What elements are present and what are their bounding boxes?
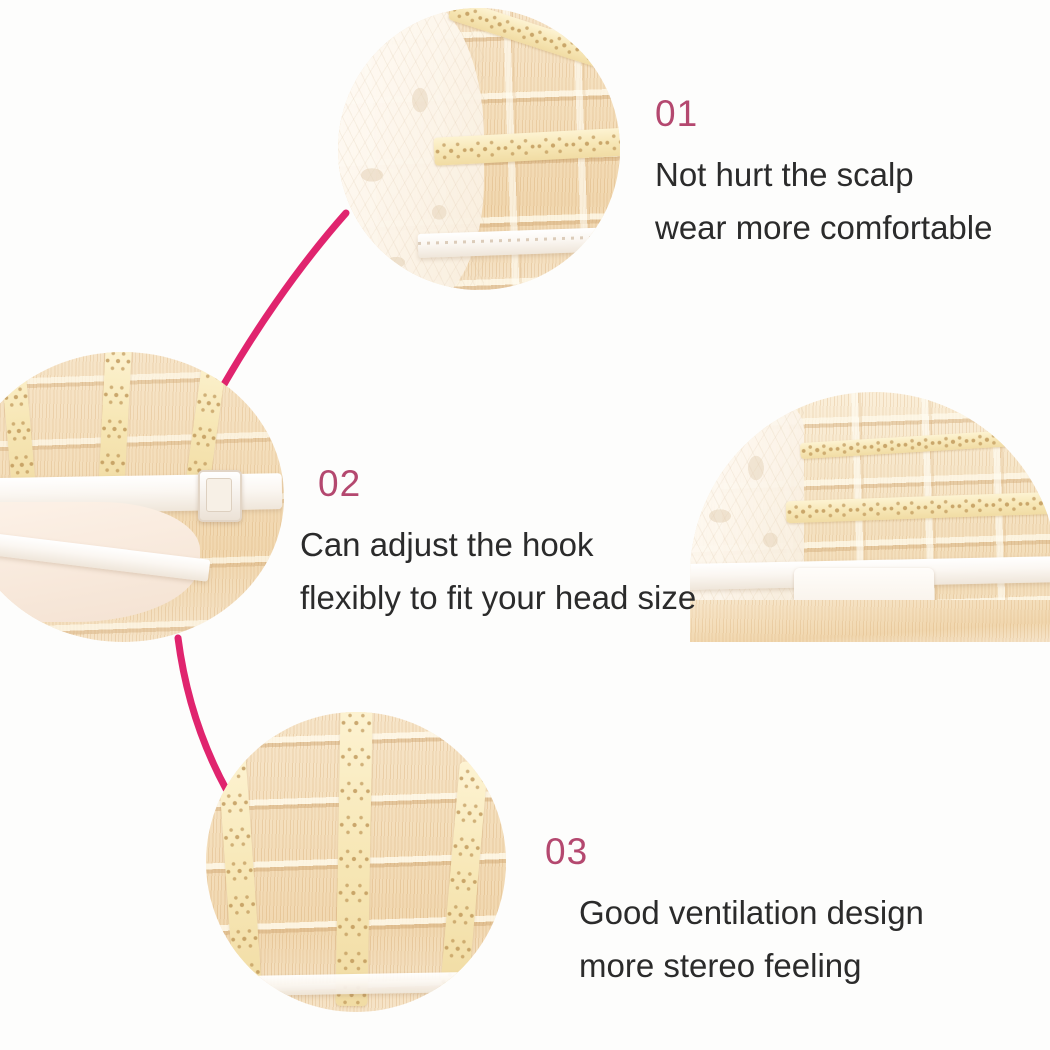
feature-line-02-2: flexibly to fit your head size	[300, 571, 696, 624]
feature-photo-03	[206, 712, 506, 1012]
feature-photo-02	[0, 352, 284, 642]
feature-line-01-2: wear more comfortable	[655, 201, 992, 254]
feature-line-01-1: Not hurt the scalp	[655, 148, 992, 201]
hero-wig-hair-fall	[690, 600, 1050, 642]
feature-text-01: 01 Not hurt the scalp wear more comforta…	[655, 95, 992, 255]
feature-photo-01	[338, 8, 620, 290]
feature-text-03: 03 Good ventilation design more stereo f…	[545, 833, 924, 993]
feature-line-03-1: Good ventilation design	[579, 886, 924, 939]
feature-number-01: 01	[655, 95, 992, 132]
feature-line-02-1: Can adjust the hook	[300, 518, 696, 571]
feature-text-02: 02 Can adjust the hook flexibly to fit y…	[300, 465, 696, 625]
infographic-canvas: 01 Not hurt the scalp wear more comforta…	[0, 0, 1050, 1050]
feature-number-03: 03	[545, 833, 924, 870]
feature-line-03-2: more stereo feeling	[579, 939, 924, 992]
feature-number-02: 02	[318, 465, 696, 502]
